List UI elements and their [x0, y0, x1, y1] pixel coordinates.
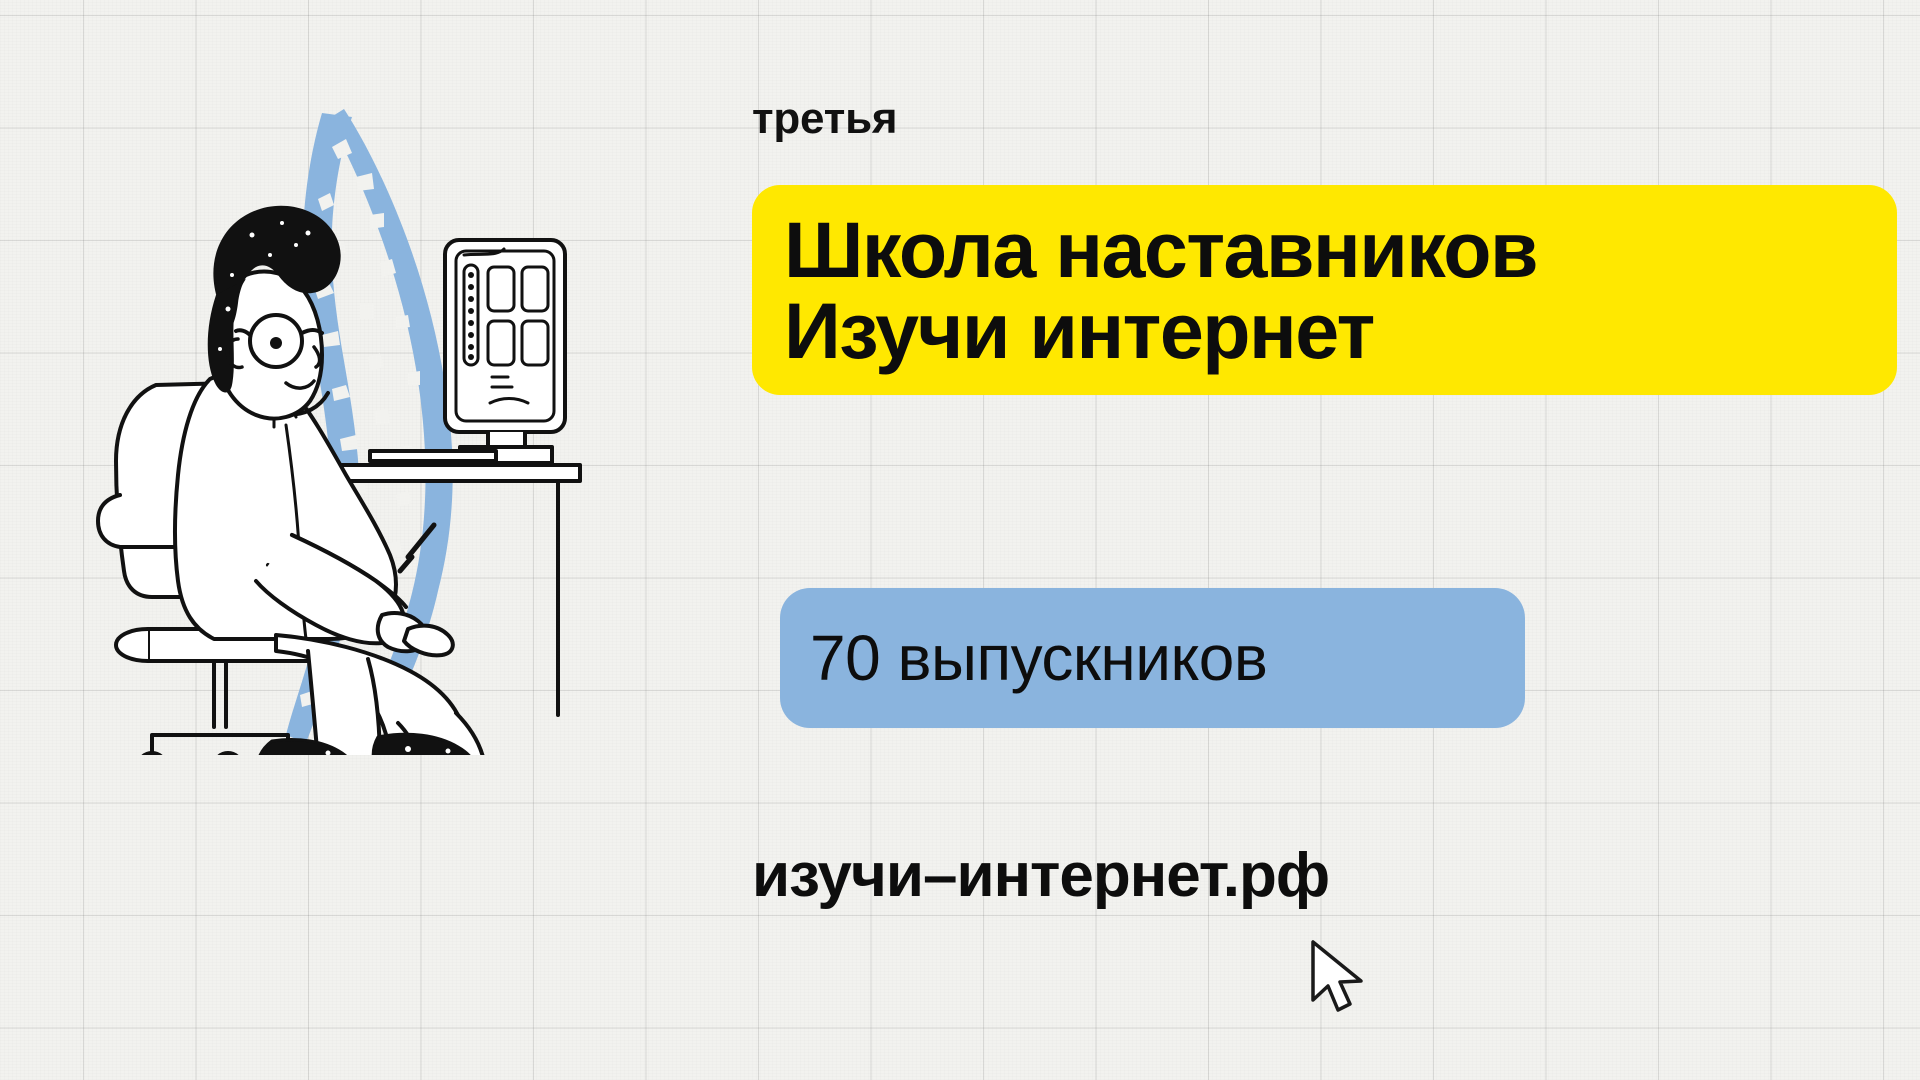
- graduates-stat-badge: 70 выпускников: [780, 588, 1525, 728]
- title-line-1: Школа наставников: [784, 209, 1865, 290]
- mouse-pointer-icon: [1305, 938, 1375, 1018]
- title-line-2: Изучи интернет: [784, 290, 1865, 371]
- title-card: Школа наставников Изучи интернет: [752, 185, 1897, 395]
- poster-canvas: третья Школа наставников Изучи интернет …: [0, 0, 1920, 1080]
- eyebrow-label: третья: [752, 94, 897, 144]
- monitor-icon: [445, 240, 565, 463]
- website-url[interactable]: изучи–интернет.рф: [752, 840, 1329, 911]
- person-at-desk-illustration: [60, 95, 620, 755]
- seated-person-icon: [175, 371, 434, 651]
- graduates-stat-text: 70 выпускников: [810, 621, 1267, 695]
- text-content-column: третья Школа наставников Изучи интернет …: [752, 0, 1920, 1080]
- keyboard-icon: [370, 451, 496, 461]
